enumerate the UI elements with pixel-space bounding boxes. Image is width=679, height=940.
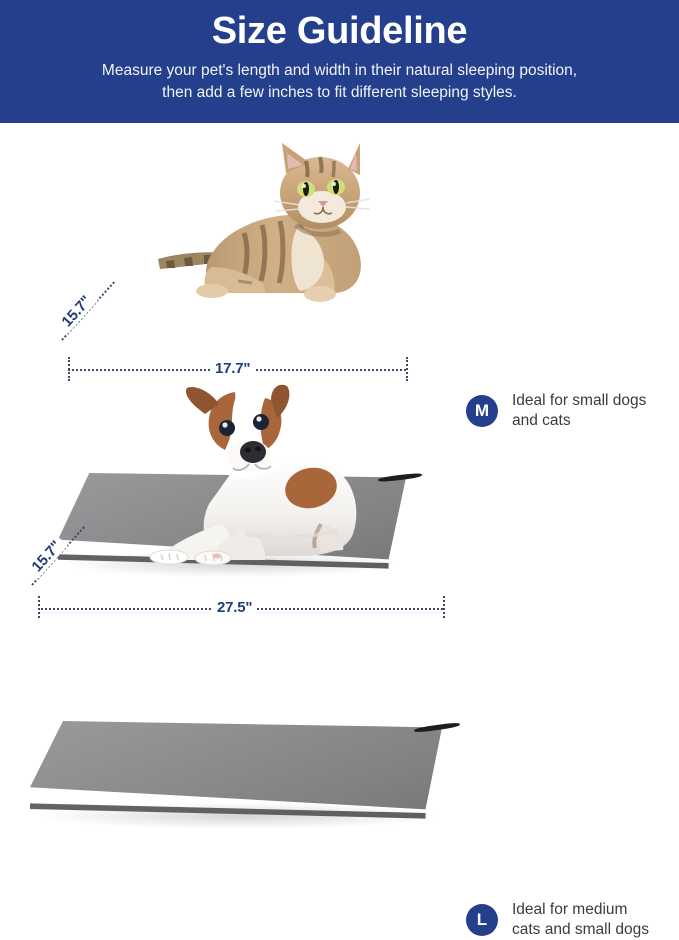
dimension-label-depth-large: 15.7" [25,534,68,579]
dog-photo [125,384,395,584]
size-badge-large: L [466,904,498,936]
product-image-large: 15.7" 27.5" [30,388,450,613]
size-caption-large-line2: cats and small dogs [512,921,649,938]
size-panel-large: 15.7" 27.5" L Ideal for medium cats and … [0,378,679,628]
header-banner: Size Guideline Measure your pet's length… [0,0,679,123]
cat-photo [148,141,398,316]
page-title: Size Guideline [0,8,679,54]
size-caption-large: Ideal for medium cats and small dogs [512,900,649,940]
header-subtitle: Measure your pet's length and width in t… [24,60,655,104]
dimension-tick-left-large [38,596,40,618]
size-caption-large-line1: Ideal for medium [512,901,627,918]
size-panel-medium: 15.7" 17.7" M Ideal for small dogs and c… [0,123,679,378]
mat-top-surface-large [30,721,442,813]
dimension-label-width-large: 27.5" [212,599,257,616]
dimension-tick-right-large [443,596,445,618]
subtitle-line-2: then add a few inches to fit different s… [24,82,655,104]
dimension-label-depth-medium: 15.7" [55,289,98,334]
subtitle-line-1: Measure your pet's length and width in t… [24,60,655,82]
dimension-label-width-medium: 17.7" [210,360,255,377]
product-image-medium: 15.7" 17.7" [58,143,418,363]
size-option-large[interactable]: L Ideal for medium cats and small dogs [466,900,649,940]
